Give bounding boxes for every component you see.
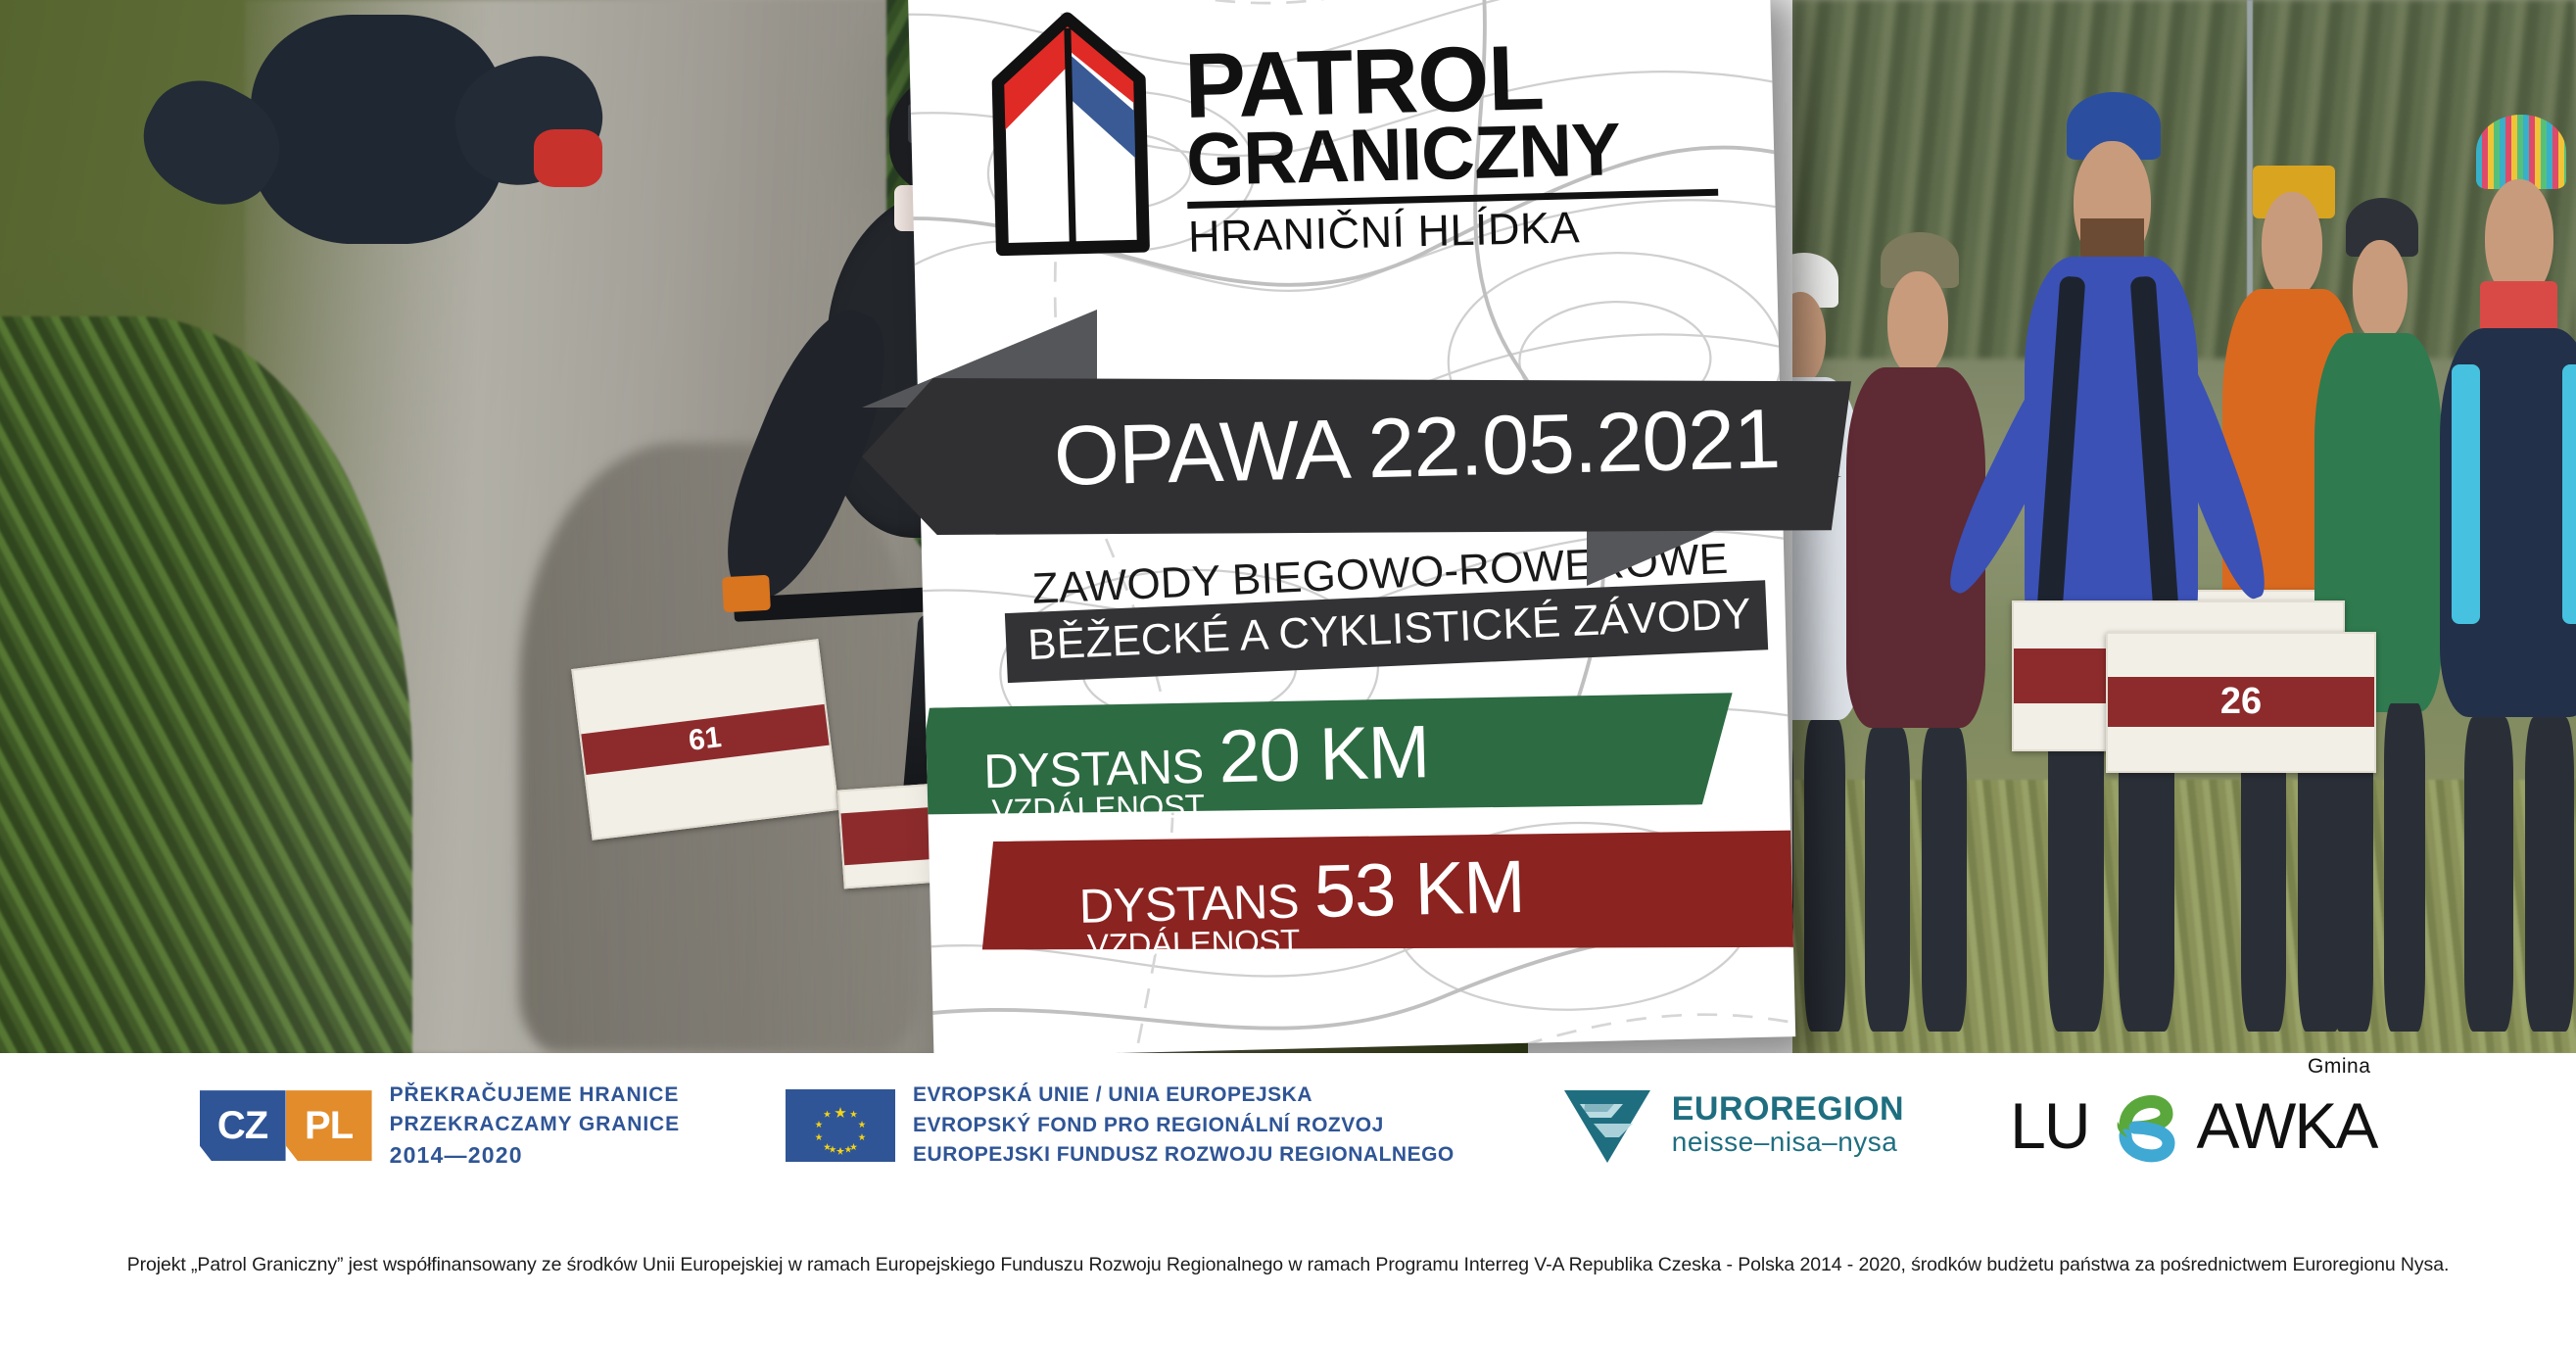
event-date-banner: OPAWA 22.05.2021 xyxy=(862,310,1783,574)
cz-mark: CZ xyxy=(200,1090,286,1161)
european-union-logo: EVROPSKÁ UNIE / UNIA EUROPEJSKA EVROPSKÝ… xyxy=(786,1081,1455,1171)
right-photo-trail-run: 34 25 26 xyxy=(1792,0,2576,1053)
cyclist-background xyxy=(153,0,642,421)
distance-value: 53 KM xyxy=(1313,852,1525,928)
eu-text: EVROPSKÁ UNIE / UNIA EUROPEJSKA EVROPSKÝ… xyxy=(913,1081,1455,1171)
cz-pl-programme-logo: CZ PL PŘEKRAČUJEME HRANICE PRZEKRACZAMY … xyxy=(200,1081,680,1171)
distance-label-cz: VZDÁLENOST xyxy=(991,790,1205,827)
distance-20km-text: DYSTANS VZDÁLENOST 20 KM xyxy=(982,717,1430,827)
runner-lead xyxy=(1996,64,2231,1033)
runner-right xyxy=(2419,106,2576,1033)
gmina-lubawka-logo: LU AWKA Gmina xyxy=(2010,1081,2376,1171)
footer: CZ PL PŘEKRAČUJEME HRANICE PRZEKRACZAMY … xyxy=(0,1053,2576,1345)
runner-left xyxy=(1824,232,2012,1033)
cz-pl-mark-icon: CZ PL xyxy=(200,1090,372,1161)
eu-line3: EUROPEJSKI FUNDUSZ ROZWOJU REGIONALNEGO xyxy=(913,1140,1455,1171)
lubawka-gmina-label: Gmina xyxy=(2308,1055,2370,1079)
event-date-text: OPAWA 22.05.2021 xyxy=(1053,391,1781,505)
poster-banner: 61 106 xyxy=(0,0,2576,1345)
brand-lockup: PATROL GRANICZNY HRANIČNÍ HLÍDKA xyxy=(969,0,1719,277)
lubawka-part2: AWKA xyxy=(2196,1093,2376,1158)
euroregion-subname: neisse–nisa–nysa xyxy=(1672,1126,1904,1159)
cz-pl-line2: PRZEKRACZAMY GRANICE xyxy=(390,1110,680,1139)
funding-disclaimer: Projekt „Patrol Graniczny” jest współfin… xyxy=(0,1254,2576,1276)
euroregion-name: EUROREGION xyxy=(1672,1092,1904,1126)
race-bib: 26 xyxy=(2106,632,2376,773)
distance-53km-text: DYSTANS VZDÁLENOST 53 KM xyxy=(1078,852,1526,962)
euroregion-text: EUROREGION neisse–nisa–nysa xyxy=(1672,1092,1904,1159)
brand-name-line2: GRANICZNY xyxy=(1185,114,1718,195)
lubawka-part1: LU xyxy=(2010,1093,2088,1158)
cz-pl-text: PŘEKRAČUJEME HRANICE PRZEKRACZAMY GRANIC… xyxy=(390,1081,680,1171)
distance-value: 20 KM xyxy=(1218,717,1430,793)
bib-number: 26 xyxy=(2108,677,2374,727)
pl-mark: PL xyxy=(286,1090,372,1161)
euroregion-triangle-icon xyxy=(1560,1084,1654,1167)
sponsor-logo-row: CZ PL PŘEKRAČUJEME HRANICE PRZEKRACZAMY … xyxy=(0,1081,2576,1171)
cz-pl-years: 2014—2020 xyxy=(390,1139,680,1172)
cz-pl-line1: PŘEKRAČUJEME HRANICE xyxy=(390,1081,680,1110)
eu-line2: EVROPSKÝ FOND PRO REGIONÁLNÍ ROZVOJ xyxy=(913,1111,1455,1141)
eu-line1: EVROPSKÁ UNIE / UNIA EUROPEJSKA xyxy=(913,1081,1455,1111)
brand-name-line3: HRANIČNÍ HLÍDKA xyxy=(1188,201,1720,258)
distance-label-cz: VZDÁLENOST xyxy=(1087,925,1301,962)
border-marker-obelisk-icon xyxy=(969,9,1170,259)
euroregion-logo: EUROREGION neisse–nisa–nysa xyxy=(1560,1084,1904,1167)
lubawka-butterfly-icon xyxy=(2106,1081,2178,1171)
eu-flag-icon xyxy=(786,1089,895,1162)
